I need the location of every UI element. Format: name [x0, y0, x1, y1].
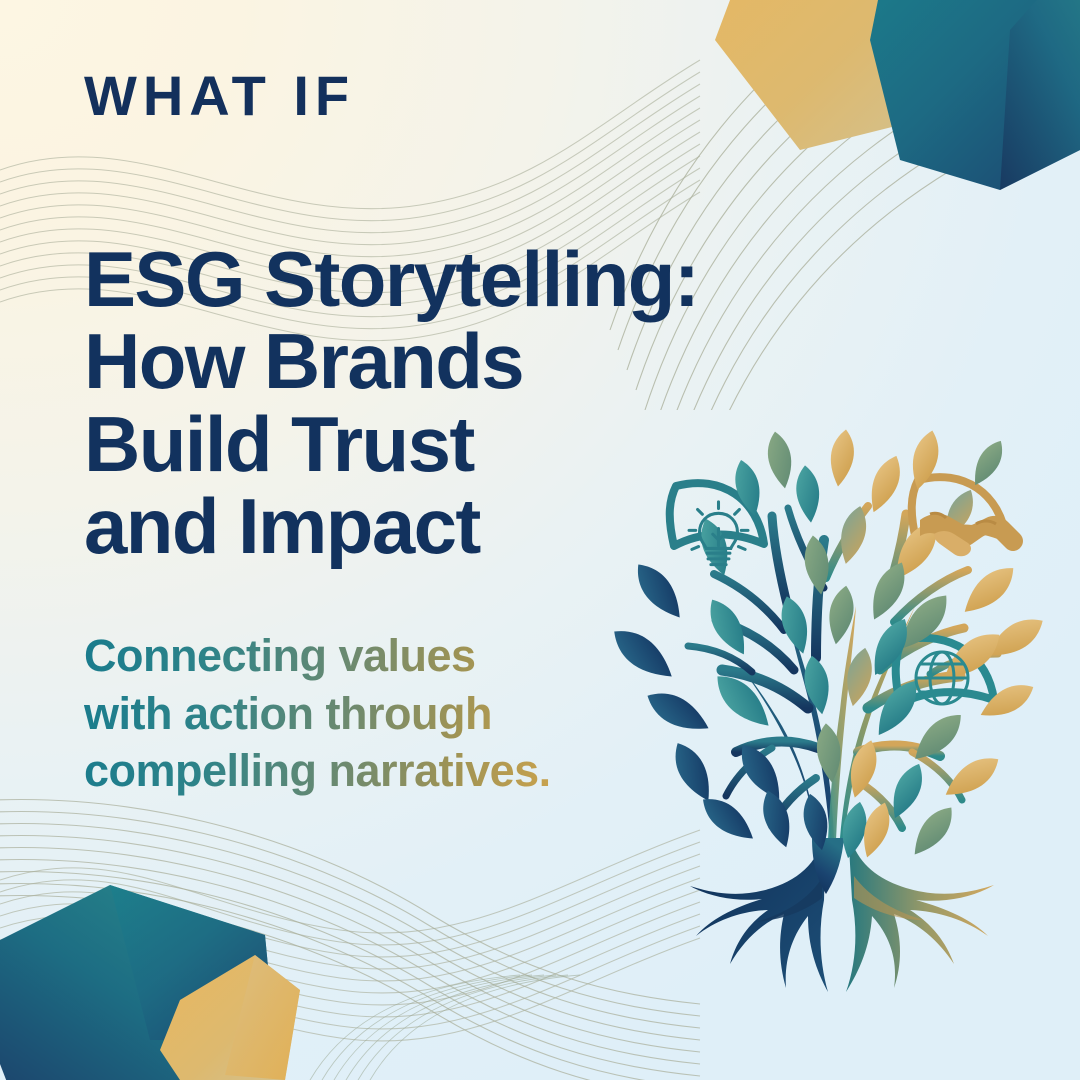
subtitle-line-2: with action through [84, 685, 644, 743]
hexagon-gold-top-right [715, 0, 995, 150]
hexagon-gold-bottom-left-facet [225, 955, 300, 1080]
headline-line-1: ESG Storytelling: [84, 238, 784, 320]
hexagon-teal-navy-bottom-left-facet [110, 885, 275, 1040]
subtitle-line-3: compelling narratives. [84, 742, 644, 800]
brand-logo: WHAT IF [84, 68, 355, 124]
contour-waves-bottom [0, 830, 700, 1041]
hexagon-teal-navy-top-right [870, 0, 1080, 190]
esg-tree-illustration [612, 408, 1062, 1008]
social-post-canvas: WHAT IF ESG Storytelling: How Brands Bui… [0, 0, 1080, 1080]
headline-line-2: How Brands [84, 320, 784, 402]
tree-roots [690, 828, 994, 992]
hexagon-gold-bottom-left [160, 955, 300, 1080]
subtitle-line-1: Connecting values [84, 627, 644, 685]
contour-lines-bottom-right [300, 975, 580, 1080]
hexagon-teal-navy-bottom-left [0, 885, 275, 1080]
page-subtitle: Connecting values with action through co… [84, 627, 644, 800]
hexagon-teal-navy-top-right-facet [1000, 0, 1080, 190]
handshake-icon [920, 513, 1023, 556]
contour-lines-bottom-left [0, 800, 700, 1080]
hexagon-gold-top-right-facet [880, 0, 995, 115]
